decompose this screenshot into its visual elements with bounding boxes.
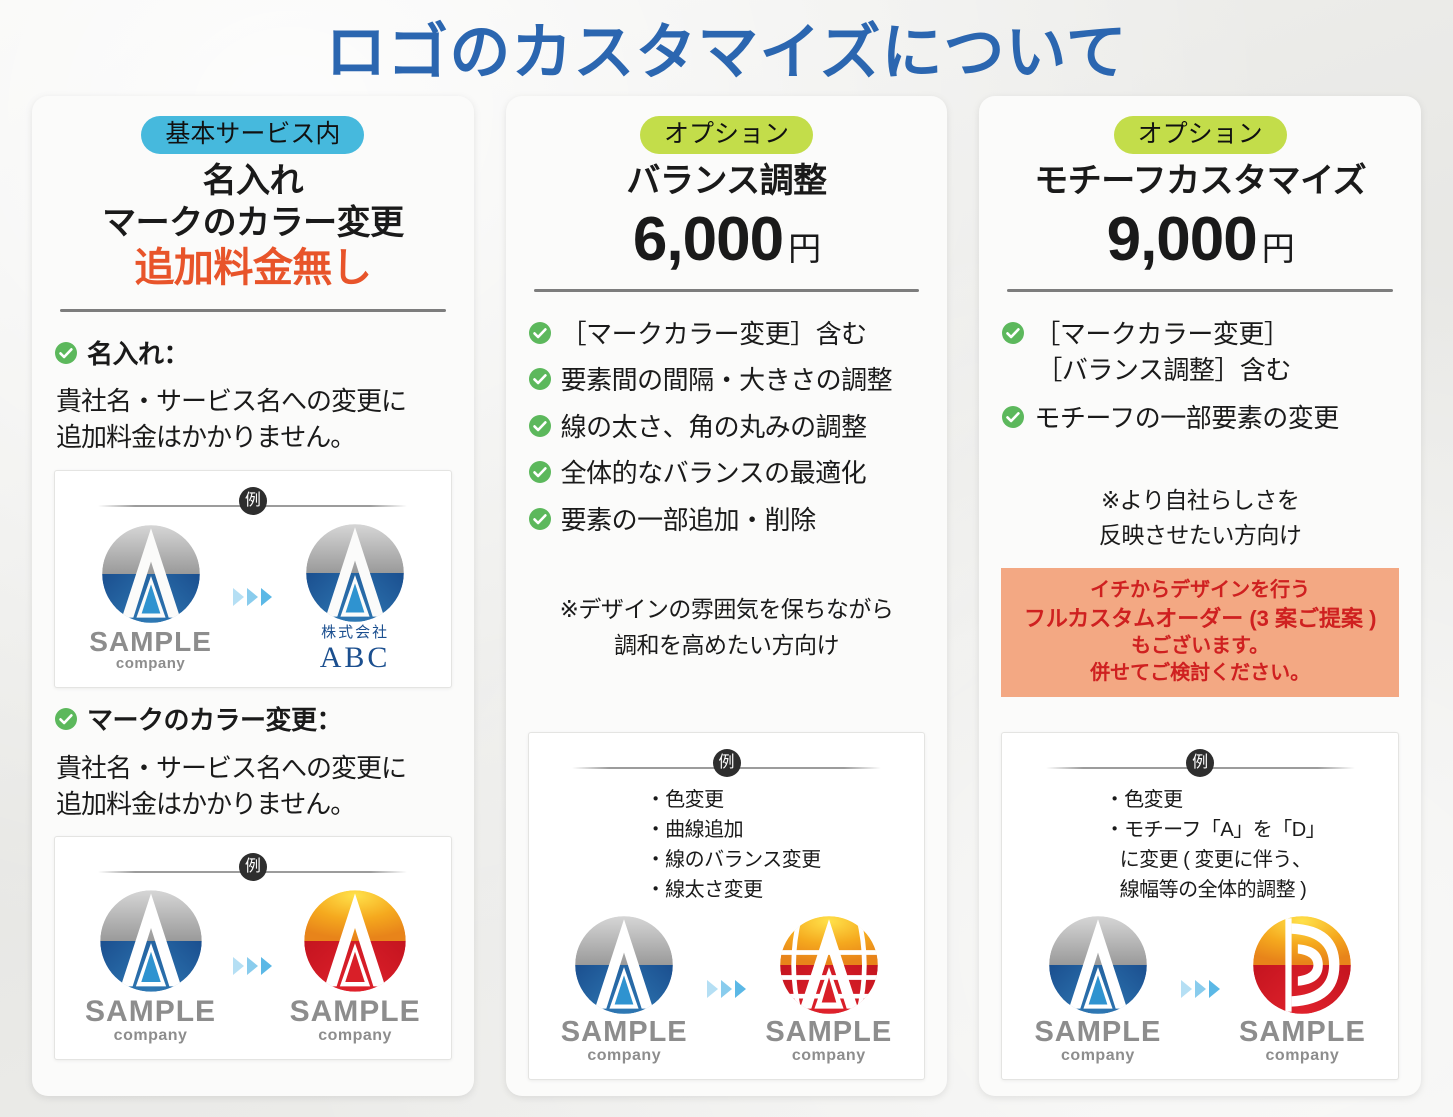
- logo-name: SAMPLE: [752, 1018, 905, 1047]
- example-chip: 例: [713, 749, 741, 777]
- check-circle-icon: [1001, 321, 1025, 350]
- logo-subname: company: [74, 1027, 227, 1045]
- logo-name: SAMPLE: [74, 997, 227, 1027]
- divider: [60, 309, 446, 312]
- feature-item: 要素の一部追加・削除: [528, 504, 926, 537]
- logo-comparison-row: SAMPLE company: [69, 517, 437, 675]
- example-bullet-list: ・色変更 ・曲線追加 ・線のバランス変更 ・線太さ変更: [543, 779, 911, 909]
- logo-before: SAMPLE company: [1022, 913, 1175, 1065]
- example-panel: 例: [54, 470, 452, 688]
- note-line2: 反映させたい方向け: [1001, 518, 1399, 554]
- example-chip: 例: [1186, 749, 1214, 777]
- example-bullet: ・色変更: [1105, 785, 1384, 815]
- logo-name: SAMPLE: [548, 1018, 701, 1047]
- logo-comparison-row: SAMPLE company: [1016, 909, 1384, 1067]
- feature-list: ［マークカラー変更］ ［バランス調整］含む モチーフの一部要素の変更: [1001, 318, 1399, 449]
- logo-name: SAMPLE: [1226, 1018, 1379, 1047]
- feature-item: ［マークカラー変更］: [1001, 318, 1399, 351]
- example-panel: 例 ・色変更 ・曲線追加 ・線のバランス変更 ・線太さ変更: [528, 732, 926, 1080]
- transform-arrows-icon: [707, 980, 746, 998]
- logo-mark-a-blue-icon: [99, 522, 203, 626]
- check-circle-icon: [528, 414, 552, 443]
- card-title-line1: バランス調整: [626, 162, 826, 200]
- logo-subname: company: [752, 1047, 905, 1065]
- card-note: ※より自社らしさを 反映させたい方向け: [1001, 483, 1399, 554]
- logo-before: SAMPLE company: [74, 887, 227, 1045]
- example-bullet: ・曲線追加: [646, 815, 911, 845]
- feature-list: ［マークカラー変更］含む 要素間の間隔・大きさの調整 線の太さ、角の丸みの調整: [528, 318, 926, 551]
- desc-line2: 追加料金はかかりません。: [56, 789, 355, 819]
- logo-mark-a-blue-icon: [303, 521, 407, 625]
- divider: [1007, 289, 1393, 292]
- plan-card-basic: 基本サービス内 名入れ マークのカラー変更 追加料金無し 名入れ： 貴社名・サー…: [32, 96, 474, 1096]
- check-circle-icon: [528, 460, 552, 489]
- logo-name: SAMPLE: [74, 628, 227, 656]
- divider: [534, 289, 920, 292]
- logo-mark-a-blue-icon: [1046, 913, 1150, 1017]
- example-bullet: ・モチーフ「A」を「D」: [1105, 815, 1384, 845]
- logo-mark-a-blue-icon: [572, 913, 676, 1017]
- badge-row: オプション: [1001, 116, 1399, 154]
- feature-description: 貴社名・サービス名への変更に 追加料金はかかりません。: [56, 751, 452, 823]
- check-circle-icon: [54, 707, 78, 736]
- example-chip: 例: [239, 487, 267, 515]
- logo-subname: company: [279, 1027, 432, 1045]
- callout-line4: 併せてご検討ください。: [1007, 660, 1393, 687]
- example-panel: 例 ・色変更 ・モチーフ「A」を「D」 に変更 ( 変更に伴う、 線幅等の全体的…: [1001, 732, 1399, 1080]
- logo-after: SAMPLE company: [279, 887, 432, 1045]
- logo-after: SAMPLE company: [752, 913, 905, 1065]
- logo-subname: company: [74, 656, 227, 673]
- check-circle-icon: [1001, 405, 1025, 434]
- logo-subname: company: [1022, 1047, 1175, 1065]
- badge-row: オプション: [528, 116, 926, 154]
- page-title: ロゴのカスタマイズについて: [0, 0, 1453, 96]
- badge-row: 基本サービス内: [54, 116, 452, 154]
- price-amount: 9,000: [1107, 205, 1257, 274]
- logo-comparison-row: SAMPLE company: [69, 883, 437, 1047]
- logo-mark-a-red-icon: [301, 887, 409, 995]
- feature-label: 要素の一部追加・削除: [561, 504, 816, 537]
- logo-after: 株式会社 ABC: [279, 521, 432, 673]
- feature-label: マークのカラー変更：: [87, 704, 342, 737]
- logo-before: SAMPLE company: [548, 913, 701, 1065]
- feature-item: ［マークカラー変更］含む: [528, 318, 926, 351]
- card-title-line2: マークのカラー変更: [102, 204, 404, 242]
- feature-item: モチーフの一部要素の変更: [1001, 402, 1399, 435]
- price-amount: 6,000: [633, 205, 783, 274]
- callout-line3: もございます。: [1007, 633, 1393, 660]
- callout-line1: イチからデザインを行う: [1007, 577, 1393, 604]
- logo-mark-a-globe-red-icon: [777, 913, 881, 1017]
- card-title: 名入れ マークのカラー変更 追加料金無し: [54, 161, 452, 291]
- desc-line1: 貴社名・サービス名への変更に: [56, 753, 406, 783]
- status-badge: オプション: [1114, 116, 1287, 154]
- logo-after: SAMPLE company: [1226, 913, 1379, 1065]
- example-chip: 例: [239, 853, 267, 881]
- feature-item: 全体的なバランスの最適化: [528, 457, 926, 490]
- card-title: バランス調整: [528, 161, 926, 202]
- price-unit: 円: [1262, 230, 1294, 267]
- example-bullet-list: ・色変更 ・モチーフ「A」を「D」 に変更 ( 変更に伴う、 線幅等の全体的調整…: [1016, 779, 1384, 909]
- example-header: 例: [69, 487, 437, 511]
- example-bullet: ・色変更: [646, 785, 911, 815]
- example-panel: 例: [54, 836, 452, 1060]
- feature-item: 線の太さ、角の丸みの調整: [528, 411, 926, 444]
- example-bullet: に変更 ( 変更に伴う、: [1105, 845, 1384, 875]
- card-note: ※デザインの雰囲気を保ちながら 調和を高めたい方向け: [528, 592, 926, 663]
- check-circle-icon: [54, 341, 78, 370]
- feature-label: ［マークカラー変更］含む: [561, 318, 867, 351]
- example-header: 例: [1016, 749, 1384, 773]
- logo-subname: company: [1226, 1047, 1379, 1065]
- feature-description: 貴社名・サービス名への変更に 追加料金はかかりません。: [56, 384, 452, 456]
- example-header: 例: [543, 749, 911, 773]
- logo-mark-a-blue-icon: [97, 887, 205, 995]
- desc-line1: 貴社名・サービス名への変更に: [56, 386, 406, 416]
- logo-subname: company: [548, 1047, 701, 1065]
- feature-label: モチーフの一部要素の変更: [1034, 402, 1338, 435]
- feature-item: 要素間の間隔・大きさの調整: [528, 364, 926, 397]
- example-header: 例: [69, 853, 437, 877]
- status-badge: 基本サービス内: [141, 116, 364, 154]
- note-line1: ※より自社らしさを: [1101, 487, 1299, 513]
- plan-card-motif: オプション モチーフカスタマイズ 9,000円 ［マークカラー変更］ ［バランス…: [979, 96, 1421, 1096]
- callout-line2: フルカスタムオーダー (3 案ご提案 ): [1007, 604, 1393, 633]
- full-custom-callout: イチからデザインを行う フルカスタムオーダー (3 案ご提案 ) もございます。…: [1001, 568, 1399, 697]
- feature-label: 全体的なバランスの最適化: [561, 457, 866, 490]
- free-label: 追加料金無し: [54, 246, 452, 291]
- logo-company-prefix: 株式会社: [279, 625, 432, 642]
- feature-item: マークのカラー変更：: [54, 704, 452, 737]
- logo-name: SAMPLE: [1022, 1018, 1175, 1047]
- feature-label: 線の太さ、角の丸みの調整: [561, 411, 867, 444]
- example-bullet: 線幅等の全体的調整 ): [1105, 875, 1384, 905]
- status-badge: オプション: [640, 116, 813, 154]
- feature-list: 名入れ： 貴社名・サービス名への変更に 追加料金はかかりません。 例: [54, 338, 452, 1060]
- example-bullet: ・線太さ変更: [646, 875, 911, 905]
- transform-arrows-icon: [233, 588, 272, 606]
- desc-line2: 追加料金はかかりません。: [56, 422, 355, 452]
- feature-label: ［マークカラー変更］: [1034, 318, 1289, 351]
- card-title-line1: モチーフカスタマイズ: [1034, 162, 1366, 200]
- logo-mark-d-red-icon: [1250, 913, 1354, 1017]
- transform-arrows-icon: [233, 957, 272, 975]
- feature-label: 名入れ：: [87, 338, 189, 371]
- transform-arrows-icon: [1181, 980, 1220, 998]
- check-circle-icon: [528, 507, 552, 536]
- infographic-page: ロゴのカスタマイズについて 基本サービス内 名入れ マークのカラー変更 追加料金…: [0, 0, 1453, 1117]
- example-bullet: ・線のバランス変更: [646, 845, 911, 875]
- price-unit: 円: [788, 230, 820, 267]
- feature-label: 要素間の間隔・大きさの調整: [561, 364, 893, 397]
- logo-comparison-row: SAMPLE company: [543, 909, 911, 1067]
- card-title-line1: 名入れ: [203, 162, 304, 200]
- feature-sub-label: ［バランス調整］含む: [1036, 354, 1399, 388]
- logo-company-name: ABC: [279, 642, 432, 674]
- note-line1: ※デザインの雰囲気を保ちながら: [560, 596, 894, 622]
- price: 6,000円: [528, 209, 926, 271]
- check-circle-icon: [528, 321, 552, 350]
- feature-item: 名入れ：: [54, 338, 452, 371]
- check-circle-icon: [528, 367, 552, 396]
- price: 9,000円: [1001, 209, 1399, 271]
- card-title: モチーフカスタマイズ: [1001, 161, 1399, 202]
- plan-cards-container: 基本サービス内 名入れ マークのカラー変更 追加料金無し 名入れ： 貴社名・サー…: [0, 96, 1453, 1096]
- logo-before: SAMPLE company: [74, 522, 227, 673]
- note-line2: 調和を高めたい方向け: [528, 628, 926, 664]
- logo-name: SAMPLE: [279, 997, 432, 1027]
- plan-card-balance: オプション バランス調整 6,000円 ［マークカラー変更］含む: [506, 96, 948, 1096]
